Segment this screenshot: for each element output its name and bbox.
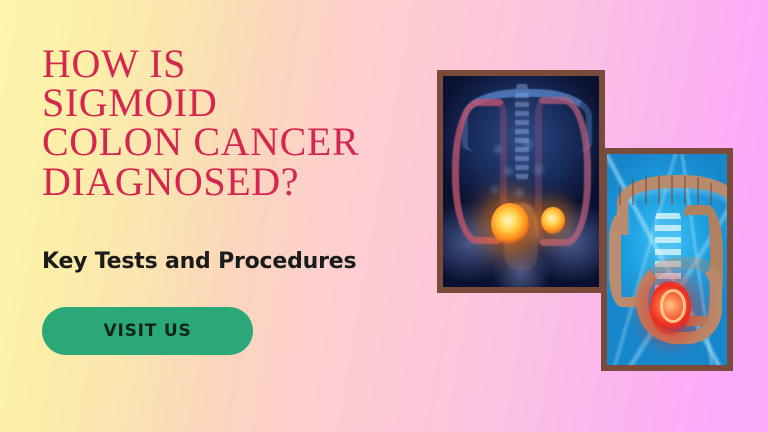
tumor-core	[660, 289, 686, 322]
subtitle: Key Tests and Procedures	[42, 249, 356, 274]
visit-us-button[interactable]: VISIT US	[42, 307, 253, 355]
primary-tumor-glow	[491, 203, 528, 245]
illustration-scene	[607, 154, 727, 365]
promo-banner: HOW IS SIGMOID COLON CANCER DIAGNOSED? K…	[0, 0, 768, 432]
colon-anatomy-illustration-image	[601, 148, 733, 371]
colon-xray-scan-image	[437, 70, 605, 293]
text-column: HOW IS SIGMOID COLON CANCER DIAGNOSED? K…	[42, 44, 434, 201]
secondary-tumor-glow	[541, 207, 564, 234]
xray-scene	[443, 76, 599, 287]
haustra-segments	[619, 175, 715, 205]
page-title: HOW IS SIGMOID COLON CANCER DIAGNOSED?	[42, 44, 434, 201]
